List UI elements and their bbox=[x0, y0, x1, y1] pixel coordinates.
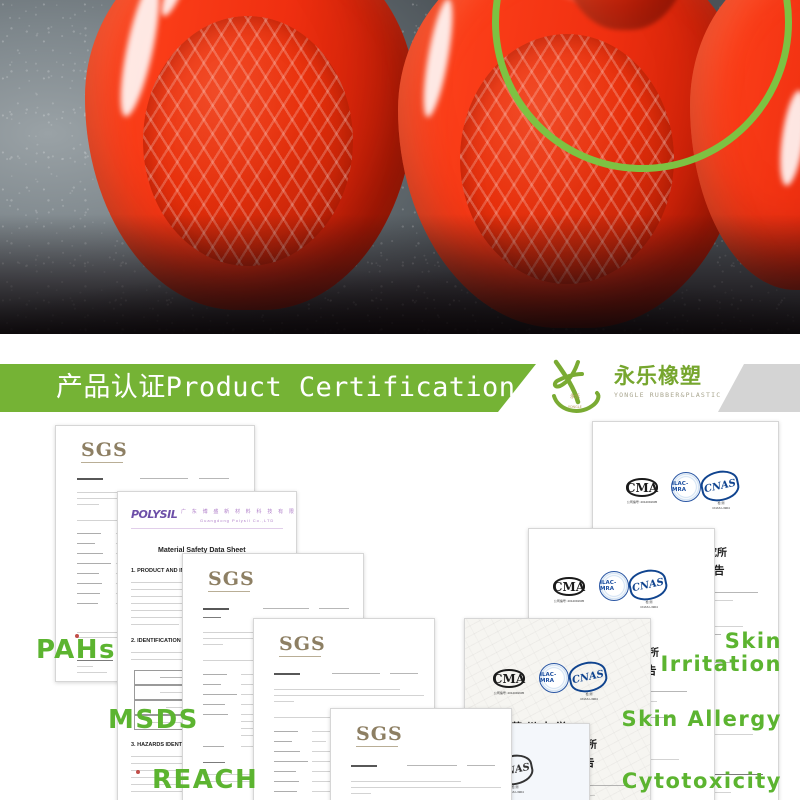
ilac-mra-mark-icon: ILAC-MRA bbox=[599, 571, 629, 601]
sgs-logo: SGS bbox=[81, 439, 128, 461]
ilac-mra-mark-icon: ILAC-MRA bbox=[539, 663, 569, 693]
cma-label: 公司编号: 2012091905 bbox=[544, 599, 594, 603]
cma-mark-icon: CMA bbox=[493, 669, 525, 688]
polysil-logo: POLYSIL bbox=[131, 508, 177, 521]
category-label-cytotoxicity: Cytotoxicity bbox=[622, 770, 782, 793]
cnas-mark-icon: CNAS bbox=[698, 467, 741, 504]
sgs-logo: SGS bbox=[279, 633, 326, 655]
msds-company-en: Guangdong Polysil Co.,LTD bbox=[200, 518, 274, 523]
sgs-logo: SGS bbox=[208, 568, 255, 590]
skin-irritation-line-2: Irritation bbox=[660, 653, 782, 676]
cma-label: 公司编号: 2012091905 bbox=[484, 691, 534, 695]
skin-irritation-line-1: Skin bbox=[660, 630, 782, 653]
photo-bottom-shadow bbox=[0, 214, 800, 334]
ilac-mra-mark-icon: ILAC-MRA bbox=[671, 472, 701, 502]
sgs-logo: SGS bbox=[356, 723, 403, 745]
cnas-label: 检 测 bbox=[628, 600, 670, 604]
cnas-label: 检 测 bbox=[568, 692, 610, 696]
svg-text:YONGLE: YONGLE bbox=[568, 405, 582, 409]
product-certification-page: 产品认证Product Certification 永乐 YONGLE 永乐橡塑… bbox=[0, 0, 800, 800]
official-red-stamp bbox=[136, 770, 140, 774]
certificate-gallery: CMA 公司编号: 2012091905 ILAC-MRA CNAS 检 测 C… bbox=[0, 418, 800, 800]
cma-mark-icon: CMA bbox=[553, 577, 585, 596]
certificate-sgs-report-4[interactable]: SGS bbox=[330, 708, 512, 800]
category-label-pahs: PAHs bbox=[36, 636, 116, 664]
brand-name-cn: 永乐橡塑 bbox=[614, 364, 721, 388]
cnas-label: 检 测 bbox=[700, 501, 742, 505]
category-label-reach: REACH bbox=[152, 766, 258, 794]
product-photo bbox=[0, 0, 800, 334]
svg-text:永乐: 永乐 bbox=[570, 393, 580, 400]
cnas-code: CNAS L3904 bbox=[700, 506, 742, 510]
yongle-leaf-logo-icon: 永乐 YONGLE bbox=[548, 358, 606, 414]
category-label-skin-irritation: Skin Irritation bbox=[660, 630, 782, 675]
msds-company-cn: 广 东 博 盛 新 材 料 科 技 有 限 公 司 bbox=[181, 508, 297, 515]
brand-name-en: YONGLE RUBBER&PLASTIC bbox=[614, 391, 721, 399]
brand-logo: 永乐 YONGLE 永乐橡塑 YONGLE RUBBER&PLASTIC bbox=[548, 358, 718, 414]
header-gray-tab bbox=[718, 364, 800, 412]
cnas-mark-icon: CNAS bbox=[626, 566, 669, 603]
brand-text: 永乐橡塑 YONGLE RUBBER&PLASTIC bbox=[614, 364, 721, 399]
cma-mark-icon: CMA bbox=[626, 478, 658, 497]
category-label-skin-allergy: Skin Allergy bbox=[621, 708, 782, 731]
category-label-msds: MSDS bbox=[108, 706, 199, 734]
cma-label: 公司编号: 2012091905 bbox=[617, 500, 667, 504]
page-title: 产品认证Product Certification bbox=[56, 371, 515, 405]
cnas-code: CNAS L3904 bbox=[628, 605, 670, 609]
cnas-mark-icon: CNAS bbox=[566, 658, 609, 695]
cnas-code: CNAS L3904 bbox=[568, 697, 610, 701]
